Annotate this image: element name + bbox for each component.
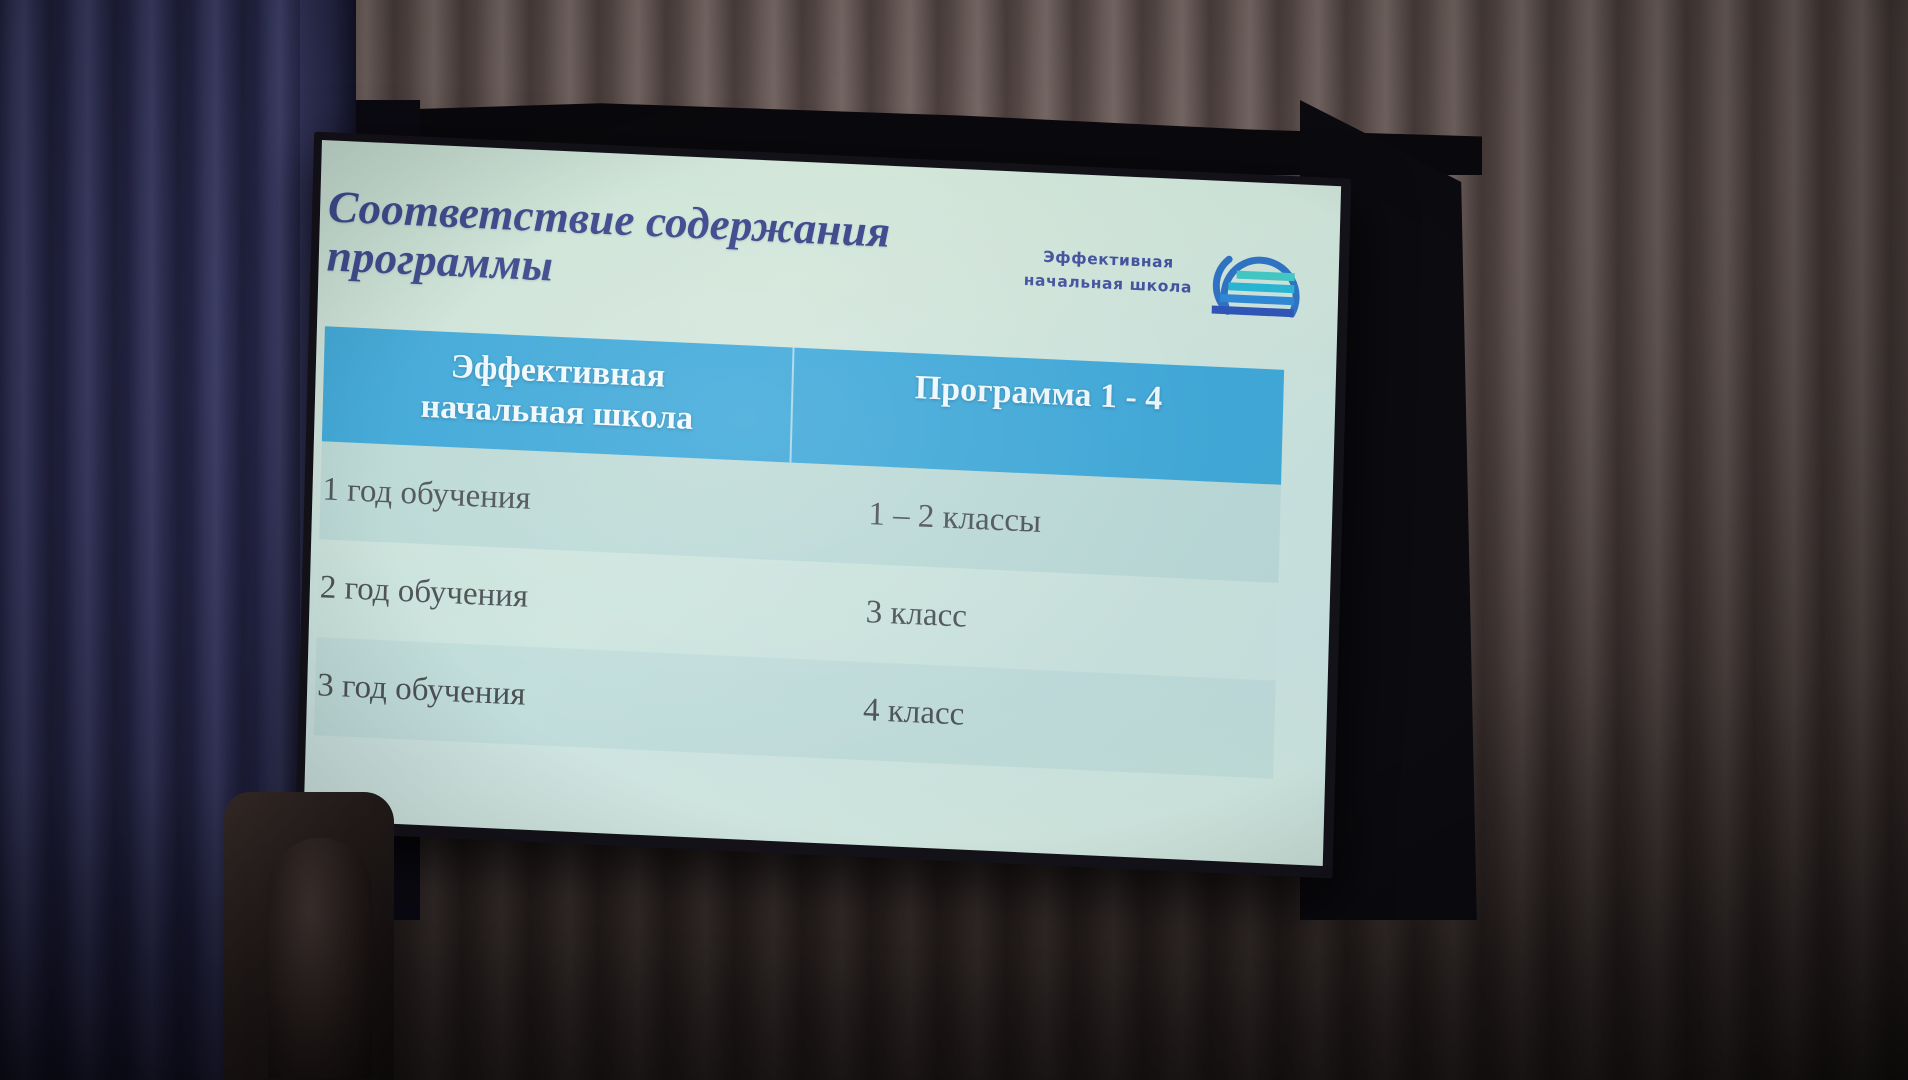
page-title: Соответствие содержания программы	[326, 184, 948, 306]
projection-screen: Соответствие содержания программы Эффект…	[304, 140, 1342, 866]
brand-logo: Эффективная начальная школа	[1019, 230, 1321, 336]
table-header-col-2: Программа 1 - 4	[792, 348, 1284, 485]
content-table: Эффективная начальная школа Программа 1 …	[314, 326, 1284, 778]
photo-scene: Соответствие содержания программы Эффект…	[0, 0, 1908, 1080]
table-cell-year: 3 год обучения	[314, 637, 787, 756]
brand-logo-text: Эффективная начальная школа	[1020, 244, 1196, 300]
presentation-slide: Соответствие содержания программы Эффект…	[304, 140, 1342, 866]
speaker-cone	[268, 838, 372, 1078]
table-body: 1 год обучения 1 – 2 классы 2 год обучен…	[314, 441, 1281, 778]
table-cell-grade: 4 класс	[784, 658, 1276, 778]
slide-header: Соответствие содержания программы Эффект…	[326, 184, 1332, 350]
arc-with-stacked-bars-logo-icon	[1197, 238, 1311, 329]
table-header-col-1: Эффективная начальная школа	[322, 326, 795, 462]
